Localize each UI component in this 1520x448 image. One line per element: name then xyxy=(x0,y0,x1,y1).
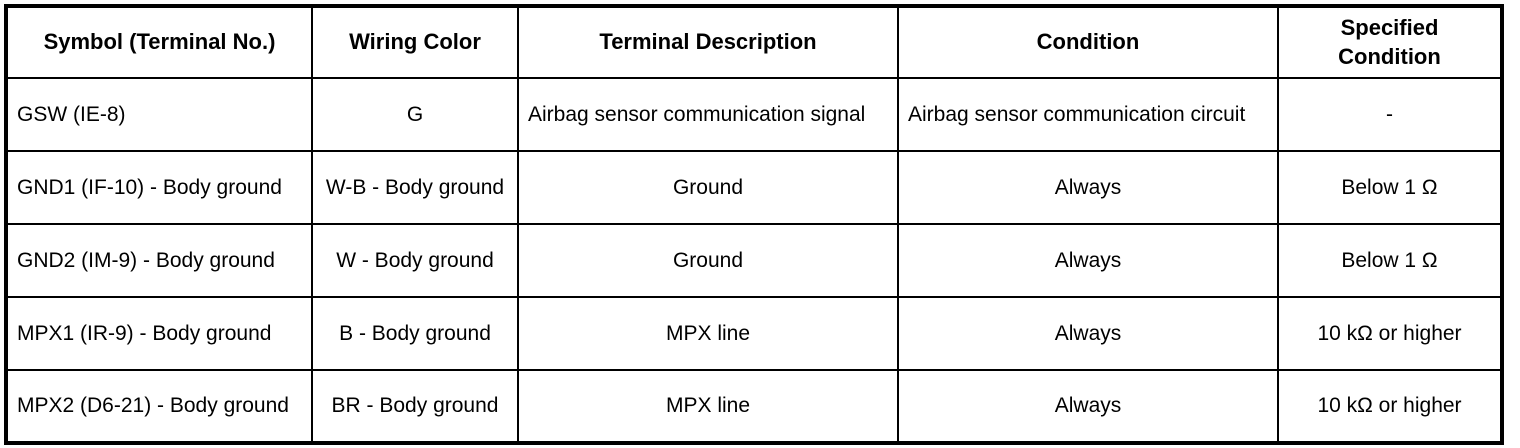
terminal-specification-table-container: Symbol (Terminal No.) Wiring Color Termi… xyxy=(4,4,1500,442)
cell-specified-condition: Below 1 Ω xyxy=(1278,224,1502,297)
cell-wiring-color: BR - Body ground xyxy=(312,370,518,443)
table-row: GND1 (IF-10) - Body ground W-B - Body gr… xyxy=(6,151,1502,224)
cell-specified-condition: 10 kΩ or higher xyxy=(1278,297,1502,370)
table-row: GSW (IE-8) G Airbag sensor communication… xyxy=(6,78,1502,151)
table-header-row: Symbol (Terminal No.) Wiring Color Termi… xyxy=(6,6,1502,78)
cell-terminal-description: Ground xyxy=(518,224,898,297)
column-header-symbol: Symbol (Terminal No.) xyxy=(6,6,312,78)
cell-wiring-color: W-B - Body ground xyxy=(312,151,518,224)
cell-specified-condition: - xyxy=(1278,78,1502,151)
cell-symbol: GND1 (IF-10) - Body ground xyxy=(6,151,312,224)
column-header-specified-condition: Specified Condition xyxy=(1278,6,1502,78)
cell-symbol: GSW (IE-8) xyxy=(6,78,312,151)
cell-condition: Always xyxy=(898,224,1278,297)
cell-terminal-description: MPX line xyxy=(518,370,898,443)
table-body: GSW (IE-8) G Airbag sensor communication… xyxy=(6,78,1502,443)
table-row: GND2 (IM-9) - Body ground W - Body groun… xyxy=(6,224,1502,297)
cell-symbol: MPX2 (D6-21) - Body ground xyxy=(6,370,312,443)
terminal-specification-table: Symbol (Terminal No.) Wiring Color Termi… xyxy=(4,4,1504,445)
cell-symbol: GND2 (IM-9) - Body ground xyxy=(6,224,312,297)
column-header-wiring-color: Wiring Color xyxy=(312,6,518,78)
cell-symbol: MPX1 (IR-9) - Body ground xyxy=(6,297,312,370)
cell-wiring-color: G xyxy=(312,78,518,151)
cell-terminal-description: MPX line xyxy=(518,297,898,370)
column-header-condition: Condition xyxy=(898,6,1278,78)
table-header: Symbol (Terminal No.) Wiring Color Termi… xyxy=(6,6,1502,78)
table-row: MPX2 (D6-21) - Body ground BR - Body gro… xyxy=(6,370,1502,443)
column-header-terminal-description: Terminal Description xyxy=(518,6,898,78)
cell-condition: Always xyxy=(898,370,1278,443)
cell-wiring-color: B - Body ground xyxy=(312,297,518,370)
cell-terminal-description: Airbag sensor communication signal xyxy=(518,78,898,151)
cell-wiring-color: W - Body ground xyxy=(312,224,518,297)
table-row: MPX1 (IR-9) - Body ground B - Body groun… xyxy=(6,297,1502,370)
cell-condition: Always xyxy=(898,151,1278,224)
cell-specified-condition: Below 1 Ω xyxy=(1278,151,1502,224)
cell-terminal-description: Ground xyxy=(518,151,898,224)
cell-condition: Always xyxy=(898,297,1278,370)
cell-specified-condition: 10 kΩ or higher xyxy=(1278,370,1502,443)
cell-condition: Airbag sensor communication circuit xyxy=(898,78,1278,151)
